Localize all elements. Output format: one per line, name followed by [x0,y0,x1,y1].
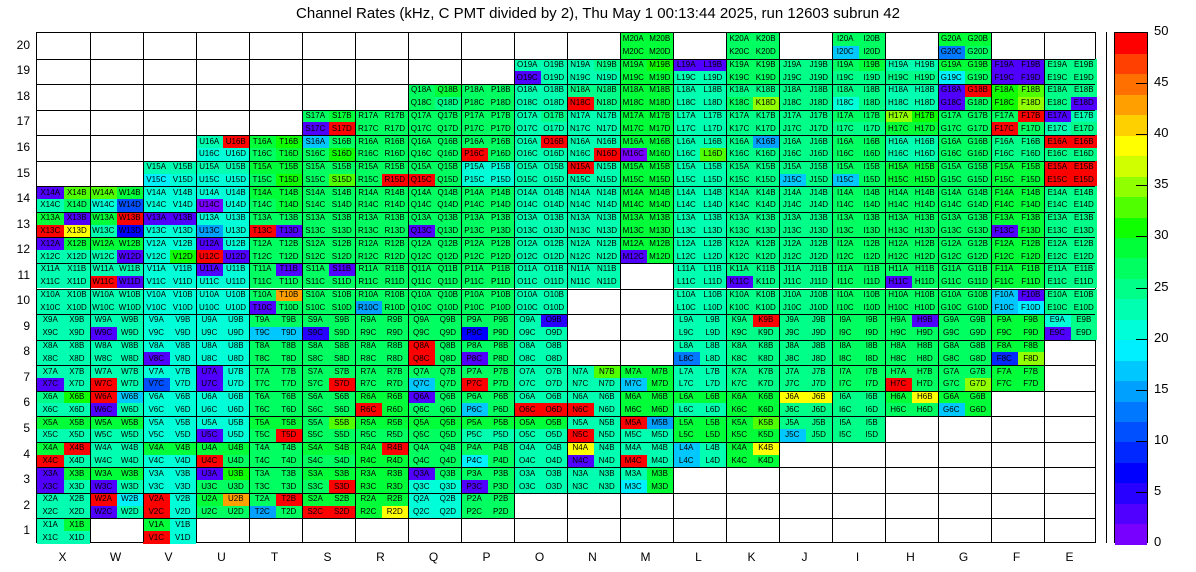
heatmap-subcell: O10D [541,301,568,314]
grid-hline [37,340,1095,341]
heatmap-subcell: O13B [541,212,568,225]
heatmap-subcell: U14B [223,186,250,199]
heatmap-subcell: R15D [382,174,409,187]
heatmap-subcell: X10A [37,289,64,302]
heatmap-subcell: N19D [594,71,621,84]
heatmap-subcell: U11B [223,263,250,276]
heatmap-subcell: G18A [938,84,965,97]
heatmap-subcell: P13A [461,212,488,225]
heatmap-subcell: J19D [806,71,833,84]
heatmap-subcell: E16B [1071,135,1098,148]
heatmap-subcell: V8A [143,340,170,353]
heatmap-subcell: P16C [461,148,488,161]
heatmap-subcell: M5B [647,416,674,429]
heatmap-subcell: P15A [461,161,488,174]
heatmap-subcell: Q6C [408,403,435,416]
heatmap-subcell: H15C [885,174,912,187]
colorbar-tick [1136,339,1148,340]
heatmap-subcell: M16D [647,148,674,161]
heatmap-subcell: H8D [912,352,939,365]
heatmap-subcell: O18D [541,97,568,110]
heatmap-subcell: R11D [382,276,409,289]
heatmap-subcell: U5C [196,429,223,442]
heatmap-subcell: G16A [938,135,965,148]
heatmap-subcell: E11C [1044,276,1071,289]
heatmap-subcell: F16C [991,148,1018,161]
heatmap-subcell: S5C [302,429,329,442]
heatmap-subcell: F18A [991,84,1018,97]
heatmap-subcell: M6D [647,403,674,416]
heatmap-subcell: J13A [779,212,806,225]
heatmap-subcell: Q13D [435,225,462,238]
heatmap-subcell: Q4B [435,442,462,455]
heatmap-subcell: R2A [355,493,382,506]
heatmap-subcell: T10A [249,289,276,302]
heatmap-subcell: G14B [965,186,992,199]
heatmap-subcell: S10C [302,301,329,314]
heatmap-subcell: X5B [64,416,91,429]
heatmap-subcell: W4B [117,442,144,455]
x-axis-tick: E [1050,550,1090,564]
heatmap-subcell: X8A [37,340,64,353]
colorbar-tick-label: 15 [1154,381,1168,396]
heatmap-subcell: F10A [991,289,1018,302]
heatmap-subcell: L16B [700,135,727,148]
heatmap-subcell: U10A [196,289,223,302]
heatmap-subcell: Q10B [435,289,462,302]
heatmap-subcell: J10D [806,301,833,314]
heatmap-subcell: P18D [488,97,515,110]
heatmap-subcell: J10B [806,289,833,302]
heatmap-subcell: U12D [223,250,250,263]
heatmap-subcell: Q12B [435,237,462,250]
heatmap-subcell: L13B [700,212,727,225]
heatmap-subcell: M19B [647,59,674,72]
heatmap-subcell: R7A [355,365,382,378]
heatmap-subcell: I9C [832,327,859,340]
heatmap-subcell: R12A [355,237,382,250]
heatmap-subcell: Q17D [435,122,462,135]
heatmap-subcell: X3A [37,467,64,480]
heatmap-subcell: L12B [700,237,727,250]
heatmap-subcell: G6A [938,391,965,404]
heatmap-subcell: K12B [753,237,780,250]
heatmap-subcell: L17D [700,122,727,135]
heatmap-subcell: E10C [1044,301,1071,314]
heatmap-subcell: W9B [117,314,144,327]
heatmap-subcell: R6C [355,403,382,416]
heatmap-subcell: P10D [488,301,515,314]
heatmap-subcell: R6B [382,391,409,404]
heatmap-subcell: V7D [170,378,197,391]
heatmap-subcell: V11C [143,276,170,289]
heatmap-subcell: N6A [567,391,594,404]
heatmap-subcell: O7D [541,378,568,391]
heatmap-subcell: O11A [514,263,541,276]
heatmap-subcell: N15C [567,174,594,187]
heatmap-subcell: R13D [382,225,409,238]
heatmap-subcell: N6B [594,391,621,404]
heatmap-subcell: H16D [912,148,939,161]
heatmap-subcell: M6B [647,391,674,404]
heatmap-subcell: H7C [885,378,912,391]
heatmap-subcell: Q9D [435,327,462,340]
heatmap-subcell: J11B [806,263,833,276]
heatmap-subcell: T13B [276,212,303,225]
heatmap-subcell: L7A [673,365,700,378]
heatmap-subcell: K12D [753,250,780,263]
heatmap-subcell: E16A [1044,135,1071,148]
heatmap-subcell: T10C [249,301,276,314]
heatmap-subcell: X7A [37,365,64,378]
heatmap-subcell: M5C [620,429,647,442]
heatmap-subcell: H12C [885,250,912,263]
heatmap-subcell: T12D [276,250,303,263]
heatmap-subcell: K18C [726,97,753,110]
heatmap-subcell: U16A [196,135,223,148]
heatmap-subcell: O17C [514,122,541,135]
colorbar-segment [1115,340,1147,361]
heatmap-subcell: F7C [991,378,1018,391]
heatmap-subcell: P2C [461,506,488,519]
heatmap-subcell: R3D [382,480,409,493]
heatmap-subcell: S16B [329,135,356,148]
heatmap-subcell: N13D [594,225,621,238]
heatmap-subcell: Q5B [435,416,462,429]
heatmap-subcell: R15C [355,174,382,187]
heatmap-subcell: R2C [355,506,382,519]
heatmap-subcell: O11D [541,276,568,289]
heatmap-subcell: I7C [832,378,859,391]
heatmap-subcell: U16D [223,148,250,161]
heatmap-subcell: G9B [965,314,992,327]
heatmap-subcell: F9A [991,314,1018,327]
heatmap-subcell: X8D [64,352,91,365]
heatmap-subcell: R8C [355,352,382,365]
heatmap-subcell: R14A [355,186,382,199]
heatmap-subcell: M3C [620,480,647,493]
heatmap-subcell: H16C [885,148,912,161]
heatmap-subcell: R6A [355,391,382,404]
heatmap-subcell: H18C [885,97,912,110]
heatmap-subcell: X2C [37,506,64,519]
heatmap-subcell: T7B [276,365,303,378]
y-axis-tick: 10 [4,293,30,307]
heatmap-subcell: K4B [753,442,780,455]
heatmap-subcell: V14C [143,199,170,212]
y-axis-tick: 16 [4,140,30,154]
heatmap-subcell: O5A [514,416,541,429]
heatmap-subcell: F9B [1018,314,1045,327]
x-axis-tick: U [202,550,242,564]
heatmap-subcell: T3A [249,467,276,480]
heatmap-subcell: I9D [859,327,886,340]
heatmap-subcell: S9C [302,327,329,340]
heatmap-subcell: O16B [541,135,568,148]
heatmap-subcell: L5B [700,416,727,429]
heatmap-subcell: X2D [64,506,91,519]
heatmap-subcell: U8B [223,340,250,353]
colorbar-tick-label: 30 [1154,227,1168,242]
heatmap-subcell: M6C [620,403,647,416]
heatmap-subcell: S10A [302,289,329,302]
heatmap-subcell: V8C [143,352,170,365]
heatmap-subcell: N7A [567,365,594,378]
x-axis-tick: J [785,550,825,564]
heatmap-subcell: X1B [64,518,91,531]
heatmap-subcell: I12C [832,250,859,263]
heatmap-subcell: K13A [726,212,753,225]
heatmap-subcell: R9C [355,327,382,340]
heatmap-subcell: M14A [620,186,647,199]
heatmap-subcell: N7B [594,365,621,378]
heatmap-subcell: T6D [276,403,303,416]
heatmap-subcell: H15A [885,161,912,174]
y-axis-tick: 7 [4,370,30,384]
heatmap-subcell: M12A [620,237,647,250]
heatmap-subcell: V3A [143,467,170,480]
heatmap-subcell: R5B [382,416,409,429]
heatmap-subcell: X5A [37,416,64,429]
heatmap-subcell: K6D [753,403,780,416]
heatmap-subcell: T7C [249,378,276,391]
heatmap-subcell: N17C [567,122,594,135]
heatmap-subcell: J10A [779,289,806,302]
heatmap-subcell: T9B [276,314,303,327]
heatmap-subcell: R17C [355,122,382,135]
heatmap-subcell: J5C [779,429,806,442]
heatmap-subcell: T5B [276,416,303,429]
heatmap-subcell: G20A [938,33,965,46]
heatmap-subcell: J17A [779,110,806,123]
heatmap-subcell: E13A [1044,212,1071,225]
heatmap-subcell: N18B [594,84,621,97]
heatmap-subcell: P12D [488,250,515,263]
heatmap-subcell: P14B [488,186,515,199]
heatmap-subcell: J7C [779,378,806,391]
heatmap-subcell: I20B [859,33,886,46]
heatmap-subcell: F12C [991,250,1018,263]
heatmap-subcell: T10D [276,301,303,314]
heatmap-subcell: V3C [143,480,170,493]
heatmap-subcell: I5D [859,429,886,442]
heatmap-subcell: H18D [912,97,939,110]
heatmap-subcell: K13B [753,212,780,225]
heatmap-subcell: L15D [700,174,727,187]
heatmap-subcell: L9B [700,314,727,327]
colorbar-segment [1115,135,1147,156]
heatmap-subcell: I6C [832,403,859,416]
heatmap-subcell: K8B [753,340,780,353]
heatmap-subcell: M14B [647,186,674,199]
heatmap-subcell: O6A [514,391,541,404]
heatmap-subcell: F11D [1018,276,1045,289]
heatmap-subcell: Q3D [435,480,462,493]
heatmap-subcell: J7B [806,365,833,378]
heatmap-subcell: K10C [726,301,753,314]
heatmap-subcell: I15D [859,174,886,187]
heatmap-subcell: T15D [276,174,303,187]
heatmap-subcell: L15B [700,161,727,174]
heatmap-subcell: X12D [64,250,91,263]
heatmap-subcell: I20A [832,33,859,46]
heatmap-subcell: K6C [726,403,753,416]
heatmap-subcell: J6C [779,403,806,416]
heatmap-subcell: T16C [249,148,276,161]
grid-hline [37,442,1095,443]
heatmap-subcell: K9D [753,327,780,340]
heatmap-subcell: G10C [938,301,965,314]
heatmap-subcell: Q10A [408,289,435,302]
heatmap-subcell: W5C [90,429,117,442]
x-axis-tick: K [732,550,772,564]
heatmap-subcell: O12D [541,250,568,263]
heatmap-subcell: F19C [991,71,1018,84]
heatmap-subcell: M20C [620,46,647,59]
heatmap-subcell: S8B [329,340,356,353]
heatmap-subcell: O11C [514,276,541,289]
heatmap-subcell: X11B [64,263,91,276]
heatmap-subcell: P17A [461,110,488,123]
heatmap-subcell: P15C [461,174,488,187]
heatmap-subcell: R16A [355,135,382,148]
heatmap-subcell: V7C [143,378,170,391]
heatmap-subcell: P4B [488,442,515,455]
heatmap-subcell: L14C [673,199,700,212]
heatmap-subcell: Q8A [408,340,435,353]
heatmap-subcell: Q6A [408,391,435,404]
heatmap-subcell: J6B [806,391,833,404]
heatmap-subcell: G6B [965,391,992,404]
heatmap-subcell: L4C [673,455,700,468]
grid-hline [37,263,1095,264]
heatmap-subcell: V9D [170,327,197,340]
heatmap-subcell: H13A [885,212,912,225]
heatmap-subcell: J17B [806,110,833,123]
heatmap-subcell: X12B [64,237,91,250]
heatmap-subcell: R6D [382,403,409,416]
heatmap-subcell: Q5C [408,429,435,442]
heatmap-subcell: N16A [567,135,594,148]
heatmap-subcell: H11B [912,263,939,276]
heatmap-plot[interactable]: M20AM20BM20CM20DK20AK20BK20CK20DI20AI20B… [36,32,1096,543]
colorbar-tick [1136,492,1148,493]
heatmap-subcell: S3C [302,480,329,493]
colorbar-segment [1115,360,1147,381]
heatmap-subcell: G8B [965,340,992,353]
heatmap-subcell: H19D [912,71,939,84]
heatmap-subcell: L18C [673,97,700,110]
heatmap-subcell: S11C [302,276,329,289]
heatmap-subcell: J15C [779,174,806,187]
heatmap-subcell: T15A [249,161,276,174]
heatmap-subcell: O12A [514,237,541,250]
heatmap-subcell: M19A [620,59,647,72]
heatmap-subcell: W13D [117,225,144,238]
heatmap-subcell: W2B [117,493,144,506]
y-axis-tick: 11 [4,268,30,282]
heatmap-subcell: W3B [117,467,144,480]
colorbar-tick-label: 35 [1154,176,1168,191]
heatmap-subcell: J19A [779,59,806,72]
heatmap-subcell: V14A [143,186,170,199]
heatmap-subcell: W10D [117,301,144,314]
heatmap-subcell: K16D [753,148,780,161]
grid-hline [37,212,1095,213]
page-title: Channel Rates (kHz, C PMT divided by 2),… [0,5,1196,22]
heatmap-subcell: L17B [700,110,727,123]
heatmap-subcell: Q11D [435,276,462,289]
heatmap-subcell: G13B [965,212,992,225]
heatmap-subcell: P9B [488,314,515,327]
heatmap-subcell: I16B [859,135,886,148]
heatmap-subcell: E13B [1071,212,1098,225]
heatmap-subcell: U16C [196,148,223,161]
heatmap-subcell: I14B [859,186,886,199]
heatmap-subcell: W5A [90,416,117,429]
heatmap-subcell: P9C [461,327,488,340]
heatmap-subcell: U6B [223,391,250,404]
heatmap-subcell: T9D [276,327,303,340]
heatmap-subcell: Q14A [408,186,435,199]
heatmap-subcell: L17C [673,122,700,135]
heatmap-subcell: S15D [329,174,356,187]
heatmap-subcell: V2D [170,506,197,519]
heatmap-subcell: F17D [1018,122,1045,135]
heatmap-subcell: P13B [488,212,515,225]
heatmap-subcell: L11C [673,276,700,289]
heatmap-subcell: F14D [1018,199,1045,212]
heatmap-subcell: O8C [514,352,541,365]
heatmap-subcell: T15B [276,161,303,174]
heatmap-subcell: P8D [488,352,515,365]
heatmap-subcell: G12C [938,250,965,263]
heatmap-subcell: I7D [859,378,886,391]
heatmap-subcell: E12C [1044,250,1071,263]
heatmap-subcell: N5D [594,429,621,442]
heatmap-subcell: G13C [938,225,965,238]
heatmap-subcell: F16B [1018,135,1045,148]
heatmap-subcell: S13D [329,225,356,238]
heatmap-subcell: O5B [541,416,568,429]
heatmap-subcell: K14A [726,186,753,199]
heatmap-subcell: O5D [541,429,568,442]
heatmap-subcell: T4A [249,442,276,455]
heatmap-subcell: N18C [567,97,594,110]
heatmap-subcell: N14B [594,186,621,199]
heatmap-subcell: S16A [302,135,329,148]
heatmap-subcell: N4B [594,442,621,455]
heatmap-subcell: E16D [1071,148,1098,161]
heatmap-subcell: Q14C [408,199,435,212]
heatmap-subcell: O16A [514,135,541,148]
heatmap-subcell: Q18A [408,84,435,97]
heatmap-subcell: E15C [1044,174,1071,187]
heatmap-subcell: J8C [779,352,806,365]
heatmap-subcell: X10B [64,289,91,302]
heatmap-subcell: J16C [779,148,806,161]
colorbar-edge [1106,32,1107,543]
grid-hline [37,161,1095,162]
heatmap-subcell: O14C [514,199,541,212]
heatmap-subcell: W11D [117,276,144,289]
heatmap-subcell: T13A [249,212,276,225]
heatmap-subcell: Q16C [408,148,435,161]
heatmap-subcell: M17C [620,122,647,135]
heatmap-subcell: K19B [753,59,780,72]
heatmap-subcell: U11D [223,276,250,289]
heatmap-subcell: P2B [488,493,515,506]
